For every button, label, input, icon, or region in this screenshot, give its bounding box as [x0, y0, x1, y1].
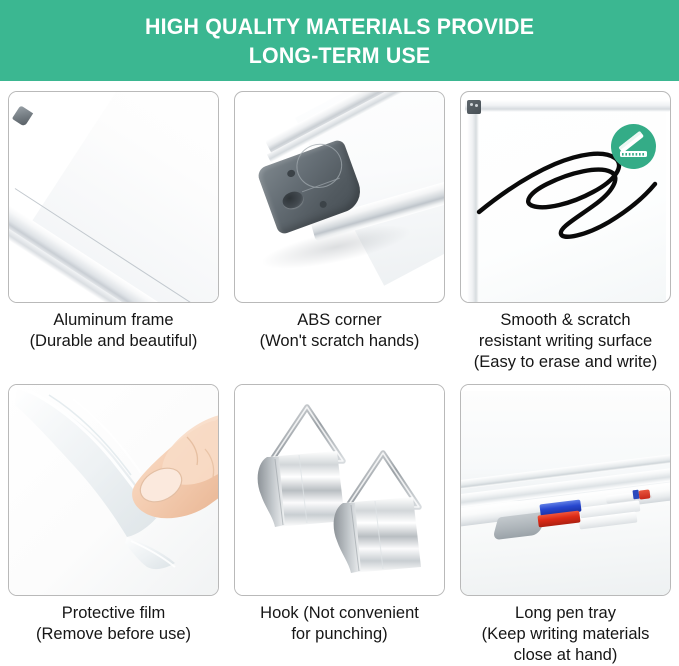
corner-rivet-dot-1 [286, 169, 296, 178]
thin-pen-red-cap [638, 489, 650, 499]
feature-cell-hook: Hook (Not convenient for punching) [234, 384, 445, 666]
feature-cell-pen-tray: Long pen tray (Keep writing materials cl… [460, 384, 671, 666]
feature-image-writing-surface [460, 91, 671, 303]
feature-image-aluminum-frame [8, 91, 219, 303]
feature-cell-writing-surface: Smooth & scratch resistant writing surfa… [460, 91, 671, 373]
feature-image-abs-corner [234, 91, 445, 303]
feature-caption-protective-film: Protective film (Remove before use) [36, 603, 191, 645]
feature-caption-pen-tray: Long pen tray (Keep writing materials cl… [482, 603, 650, 666]
board-top-rail-shape [465, 100, 670, 112]
feature-row-bottom: Protective film (Remove before use) [8, 384, 671, 666]
feature-grid: Aluminum frame (Durable and beautiful) A… [0, 81, 679, 666]
banner-title-line-1: HIGH QUALITY MATERIALS PROVIDE [145, 12, 534, 41]
corner-rivet-dot-2 [319, 200, 328, 209]
board-corner-bracket-shape [467, 100, 481, 114]
feature-image-protective-film [8, 384, 219, 596]
feature-caption-writing-surface: Smooth & scratch resistant writing surfa… [474, 310, 657, 373]
feature-caption-hook: Hook (Not convenient for punching) [260, 603, 419, 645]
header-banner: HIGH QUALITY MATERIALS PROVIDE LONG-TERM… [0, 0, 679, 81]
eraser-badge-icon [611, 124, 656, 169]
grid-row-spacer [8, 373, 671, 384]
feature-caption-abs-corner: ABS corner (Won't scratch hands) [260, 310, 420, 352]
protective-film-illustration [9, 385, 219, 596]
feature-image-hook [234, 384, 445, 596]
feature-cell-aluminum-frame: Aluminum frame (Durable and beautiful) [8, 91, 219, 373]
feature-row-top: Aluminum frame (Durable and beautiful) A… [8, 91, 671, 373]
banner-title-line-2: LONG-TERM USE [249, 41, 431, 70]
feature-caption-aluminum-frame: Aluminum frame (Durable and beautiful) [30, 310, 198, 352]
feature-cell-abs-corner: ABS corner (Won't scratch hands) [234, 91, 445, 373]
feature-image-pen-tray [460, 384, 671, 596]
feature-cell-protective-film: Protective film (Remove before use) [8, 384, 219, 666]
hooks-illustration [235, 385, 445, 596]
